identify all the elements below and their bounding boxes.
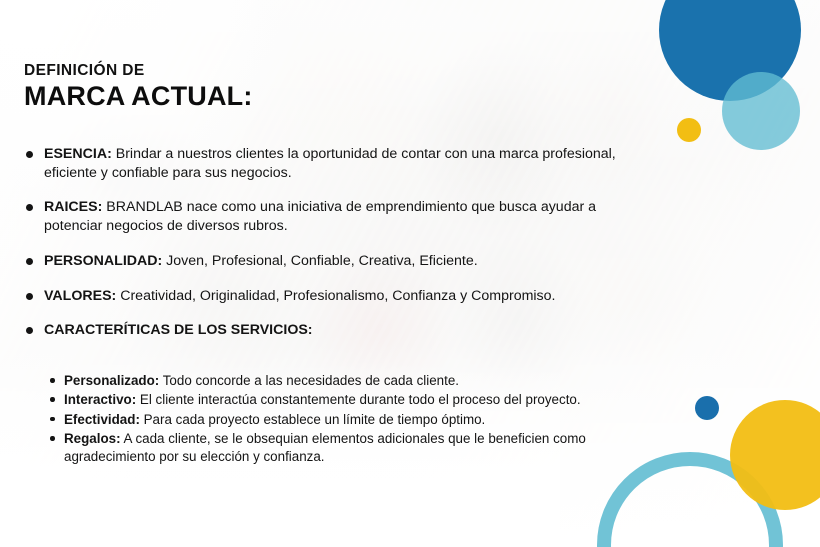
bullet-list: ESENCIA: Brindar a nuestros clientes la … [24,145,634,350]
bullet-item: CARACTERÍTICAS DE LOS SERVICIOS: [24,321,634,340]
subbullet-lead: Interactivo: [64,392,136,407]
bullet-item: ESENCIA: Brindar a nuestros clientes la … [24,145,634,182]
subbullet-item: Interactivo: El cliente interactúa const… [48,391,608,408]
bullet-text: Creatividad, Originalidad, Profesionalis… [116,288,555,304]
bullet-text: Brindar a nuestros clientes la oportunid… [44,146,616,181]
subbullet-item: Regalos: A cada cliente, se le obsequian… [48,430,608,465]
bullet-item: RAICES: BRANDLAB nace como una iniciativ… [24,198,634,235]
bullet-lead: RAICES: [44,199,102,215]
subbullet-lead: Efectividad: [64,412,140,427]
slide-content: DEFINICIÓN DE MARCA ACTUAL: ESENCIA: Bri… [0,0,820,547]
subbullet-text: El cliente interactúa constantemente dur… [136,392,580,407]
subbullet-item: Efectividad: Para cada proyecto establec… [48,411,608,428]
slide-canvas: DEFINICIÓN DE MARCA ACTUAL: ESENCIA: Bri… [0,0,820,547]
bullet-lead: PERSONALIDAD: [44,253,162,269]
subbullet-text: Para cada proyecto establece un límite d… [140,412,485,427]
bullet-text: Joven, Profesional, Confiable, Creativa,… [162,253,477,269]
subbullet-lead: Regalos: [64,431,121,446]
kicker-text: DEFINICIÓN DE [24,62,253,79]
heading-block: DEFINICIÓN DE MARCA ACTUAL: [24,62,253,110]
subbullet-item: Personalizado: Todo concorde a las neces… [48,372,608,389]
bullet-text: BRANDLAB nace como una iniciativa de emp… [44,199,596,234]
subbullet-lead: Personalizado: [64,373,159,388]
bullet-item: VALORES: Creatividad, Originalidad, Prof… [24,287,634,306]
subbullet-text: Todo concorde a las necesidades de cada … [159,373,459,388]
subbullet-list: Personalizado: Todo concorde a las neces… [48,372,608,467]
subbullet-text: A cada cliente, se le obsequian elemento… [64,431,586,463]
bullet-lead: CARACTERÍTICAS DE LOS SERVICIOS: [44,322,313,338]
bullet-lead: ESENCIA: [44,146,112,162]
bullet-lead: VALORES: [44,288,116,304]
bullet-item: PERSONALIDAD: Joven, Profesional, Confia… [24,252,634,271]
page-title: MARCA ACTUAL: [24,82,253,110]
